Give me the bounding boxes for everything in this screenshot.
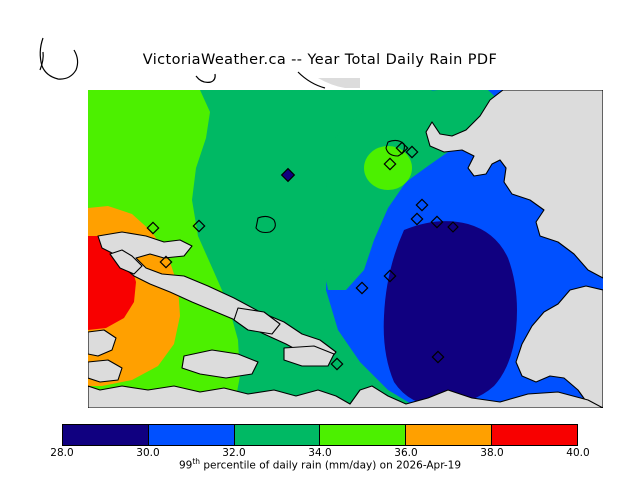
colorbar-segment-36.0-38.0[interactable]: [406, 425, 492, 445]
caption-rest: percentile of daily rain (mm/day) on 202…: [200, 460, 461, 472]
contour-map: [88, 90, 603, 408]
caption-prefix: 99: [179, 460, 192, 472]
band-28-30-southeast: [384, 221, 517, 406]
screenshot-root: VictoriaWeather.ca -- Year Total Daily R…: [0, 0, 640, 480]
colorbar-segment-28.0-30.0[interactable]: [63, 425, 149, 445]
coastline-fragment-topmid: [196, 74, 215, 82]
caption-superscript: th: [192, 457, 200, 466]
colorbar-segments[interactable]: [62, 424, 578, 446]
page-title: VictoriaWeather.ca -- Year Total Daily R…: [0, 52, 640, 68]
colorbar[interactable]: 28.030.032.034.036.038.040.0: [62, 424, 578, 446]
colorbar-segment-38.0-40.0[interactable]: [492, 425, 577, 445]
colorbar-segment-32.0-34.0[interactable]: [235, 425, 321, 445]
land-sliver-topright: [318, 78, 360, 88]
colorbar-segment-34.0-36.0[interactable]: [320, 425, 406, 445]
coastline-fragment-topright: [298, 72, 325, 88]
map-canvas[interactable]: [88, 90, 603, 408]
colorbar-segment-30.0-32.0[interactable]: [149, 425, 235, 445]
colorbar-caption: 99th percentile of daily rain (mm/day) o…: [0, 457, 640, 472]
